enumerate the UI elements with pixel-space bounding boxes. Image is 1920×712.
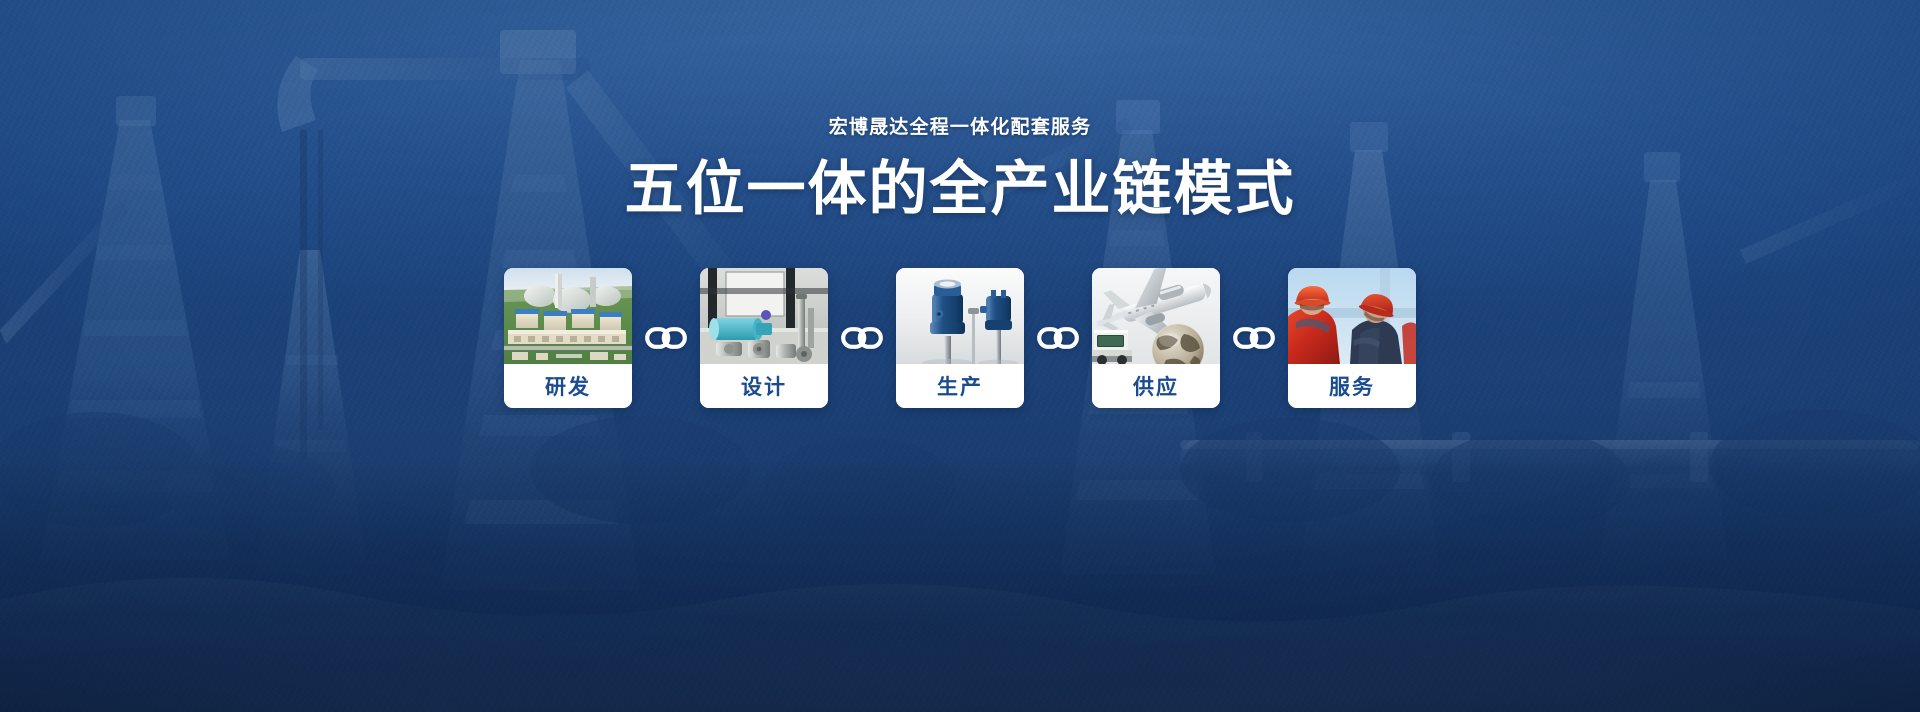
- industrial-plant-aerial-icon: [504, 268, 632, 364]
- chain-card-label-rd: 研发: [504, 364, 632, 408]
- engineering-machinery-icon: [700, 268, 828, 364]
- chain-card-rd[interactable]: 研发: [504, 268, 632, 408]
- banner-title: 五位一体的全产业链模式: [0, 160, 1920, 219]
- level-sensor-instrument-icon: [896, 268, 1024, 364]
- banner-subtitle: 宏博晟达全程一体化配套服务: [0, 118, 1920, 137]
- chain-card-image-supply: [1092, 268, 1220, 364]
- chain-card-production[interactable]: 生产: [896, 268, 1024, 408]
- hero-banner: 宏博晟达全程一体化配套服务 五位一体的全产业链模式: [0, 0, 1920, 712]
- banner-headings: 宏博晟达全程一体化配套服务 五位一体的全产业链模式: [0, 118, 1920, 219]
- chain-connector-3: [1024, 268, 1092, 408]
- chain-card-image-rd: [504, 268, 632, 364]
- chain-connector-4: [1220, 268, 1288, 408]
- chain-card-label-design: 设计: [700, 364, 828, 408]
- logistics-plane-truck-globe-icon: [1092, 268, 1220, 364]
- chain-card-image-service: [1288, 268, 1416, 364]
- chain-card-supply[interactable]: 供应: [1092, 268, 1220, 408]
- chain-card-label-supply: 供应: [1092, 364, 1220, 408]
- field-workers-icon: [1288, 268, 1416, 364]
- chain-link-icon: [644, 325, 688, 351]
- chain-link-icon: [1036, 325, 1080, 351]
- chain-connector-1: [632, 268, 700, 408]
- chain-card-image-design: [700, 268, 828, 364]
- chain-card-image-production: [896, 268, 1024, 364]
- chain-card-label-service: 服务: [1288, 364, 1416, 408]
- chain-card-design[interactable]: 设计: [700, 268, 828, 408]
- value-chain-row: 研发: [0, 268, 1920, 408]
- chain-card-label-production: 生产: [896, 364, 1024, 408]
- chain-link-icon: [840, 325, 884, 351]
- chain-card-service[interactable]: 服务: [1288, 268, 1416, 408]
- chain-link-icon: [1232, 325, 1276, 351]
- chain-connector-2: [828, 268, 896, 408]
